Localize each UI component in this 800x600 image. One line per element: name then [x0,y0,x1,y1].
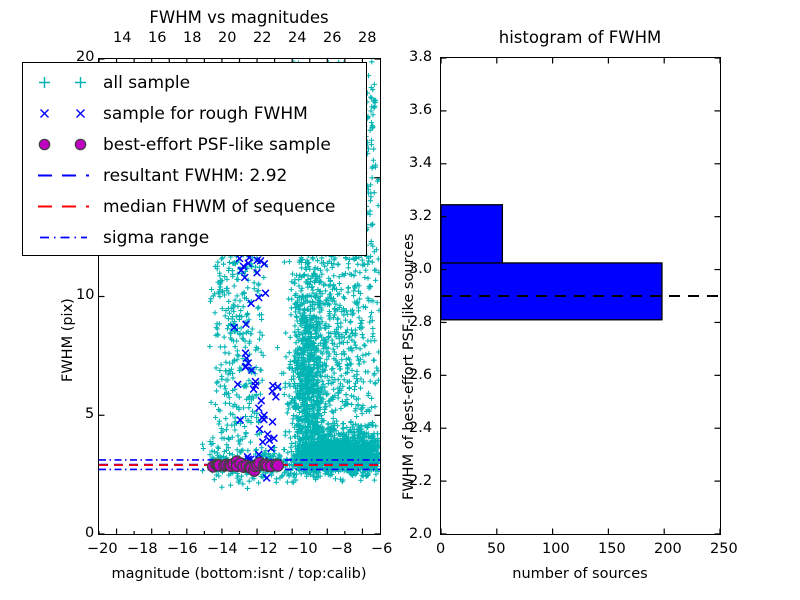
top-tick-label: 28 [358,30,376,46]
x-tick-label: 250 [710,541,738,557]
legend-item-resultant-fwhm[interactable]: resultant FWHM: 2.92 [29,160,358,191]
y-tick-label: 3.6 [409,102,432,118]
right-axes[interactable] [440,57,721,535]
x-tick-label: 200 [654,541,682,557]
bottom-tick-label: −12 [247,541,278,557]
x-tick-label: 0 [436,541,445,557]
legend-label: resultant FWHM: 2.92 [101,166,287,186]
legend[interactable]: all sample sample for rough FWHM b [22,62,367,256]
y-tick-label: 3.4 [409,155,432,171]
top-tick-label: 26 [323,30,341,46]
y-tick-label: 3.8 [409,49,432,65]
bottom-tick-label: −8 [331,541,352,557]
cross-marker-icon [29,98,101,129]
legend-label: sigma range [101,228,209,248]
y-tick-label: 3.2 [409,208,432,224]
left-panel-title: FWHM vs magnitudes [98,8,380,27]
y-tick-label: 5 [85,406,94,422]
left-panel-xlabel: magnitude (bottom:isnt / top:calib) [98,566,380,582]
y-tick-label: 2.2 [409,473,432,489]
legend-label: median FHWM of sequence [101,197,335,217]
bottom-tick-label: −10 [287,541,318,557]
right-panel-title: histogram of FWHM [440,28,720,47]
right-histogram-plot [441,58,720,534]
x-tick-label: 100 [542,541,570,557]
legend-item-median-fwhm[interactable]: median FHWM of sequence [29,191,358,222]
y-tick-label: 2.8 [409,314,432,330]
y-tick-label: 0 [85,525,94,541]
top-tick-label: 18 [183,30,201,46]
plus-marker-icon [29,67,101,98]
bottom-tick-label: −18 [127,541,158,557]
legend-item-all-sample[interactable]: all sample [29,67,358,98]
legend-item-rough-sample[interactable]: sample for rough FWHM [29,98,358,129]
y-tick-label: 2.4 [409,420,432,436]
y-tick-label: 3.0 [409,261,432,277]
y-tick-label: 2.0 [409,526,432,542]
bottom-tick-label: −14 [207,541,238,557]
legend-label: sample for rough FWHM [101,104,308,124]
right-panel-xlabel: number of sources [440,566,720,582]
figure-canvas: FWHM vs magnitudes 14 16 18 20 22 24 26 … [0,0,800,600]
dashed-line-icon [29,160,101,191]
x-tick-label: 50 [487,541,505,557]
top-tick-label: 20 [218,30,236,46]
circle-marker-icon [29,129,101,160]
left-panel-ylabel: FWHM (pix) [60,298,76,382]
top-tick-label: 24 [288,30,306,46]
legend-label: all sample [101,73,190,93]
histogram-bar-1 [441,205,502,263]
y-tick-label: 10 [76,287,94,303]
bottom-tick-label: −16 [167,541,198,557]
dashdot-line-icon [29,222,101,253]
bottom-tick-label: −20 [87,541,118,557]
top-tick-label: 16 [148,30,166,46]
dashed-line-icon [29,191,101,222]
x-tick-label: 150 [598,541,626,557]
y-tick-label: 2.6 [409,367,432,383]
legend-label: best-effort PSF-like sample [101,135,331,155]
histogram-bar-0 [441,263,662,320]
bottom-tick-label: −6 [371,541,392,557]
legend-item-psf-sample[interactable]: best-effort PSF-like sample [29,129,358,160]
legend-item-sigma-range[interactable]: sigma range [29,222,358,253]
top-tick-label: 22 [253,30,271,46]
top-tick-label: 14 [113,30,131,46]
